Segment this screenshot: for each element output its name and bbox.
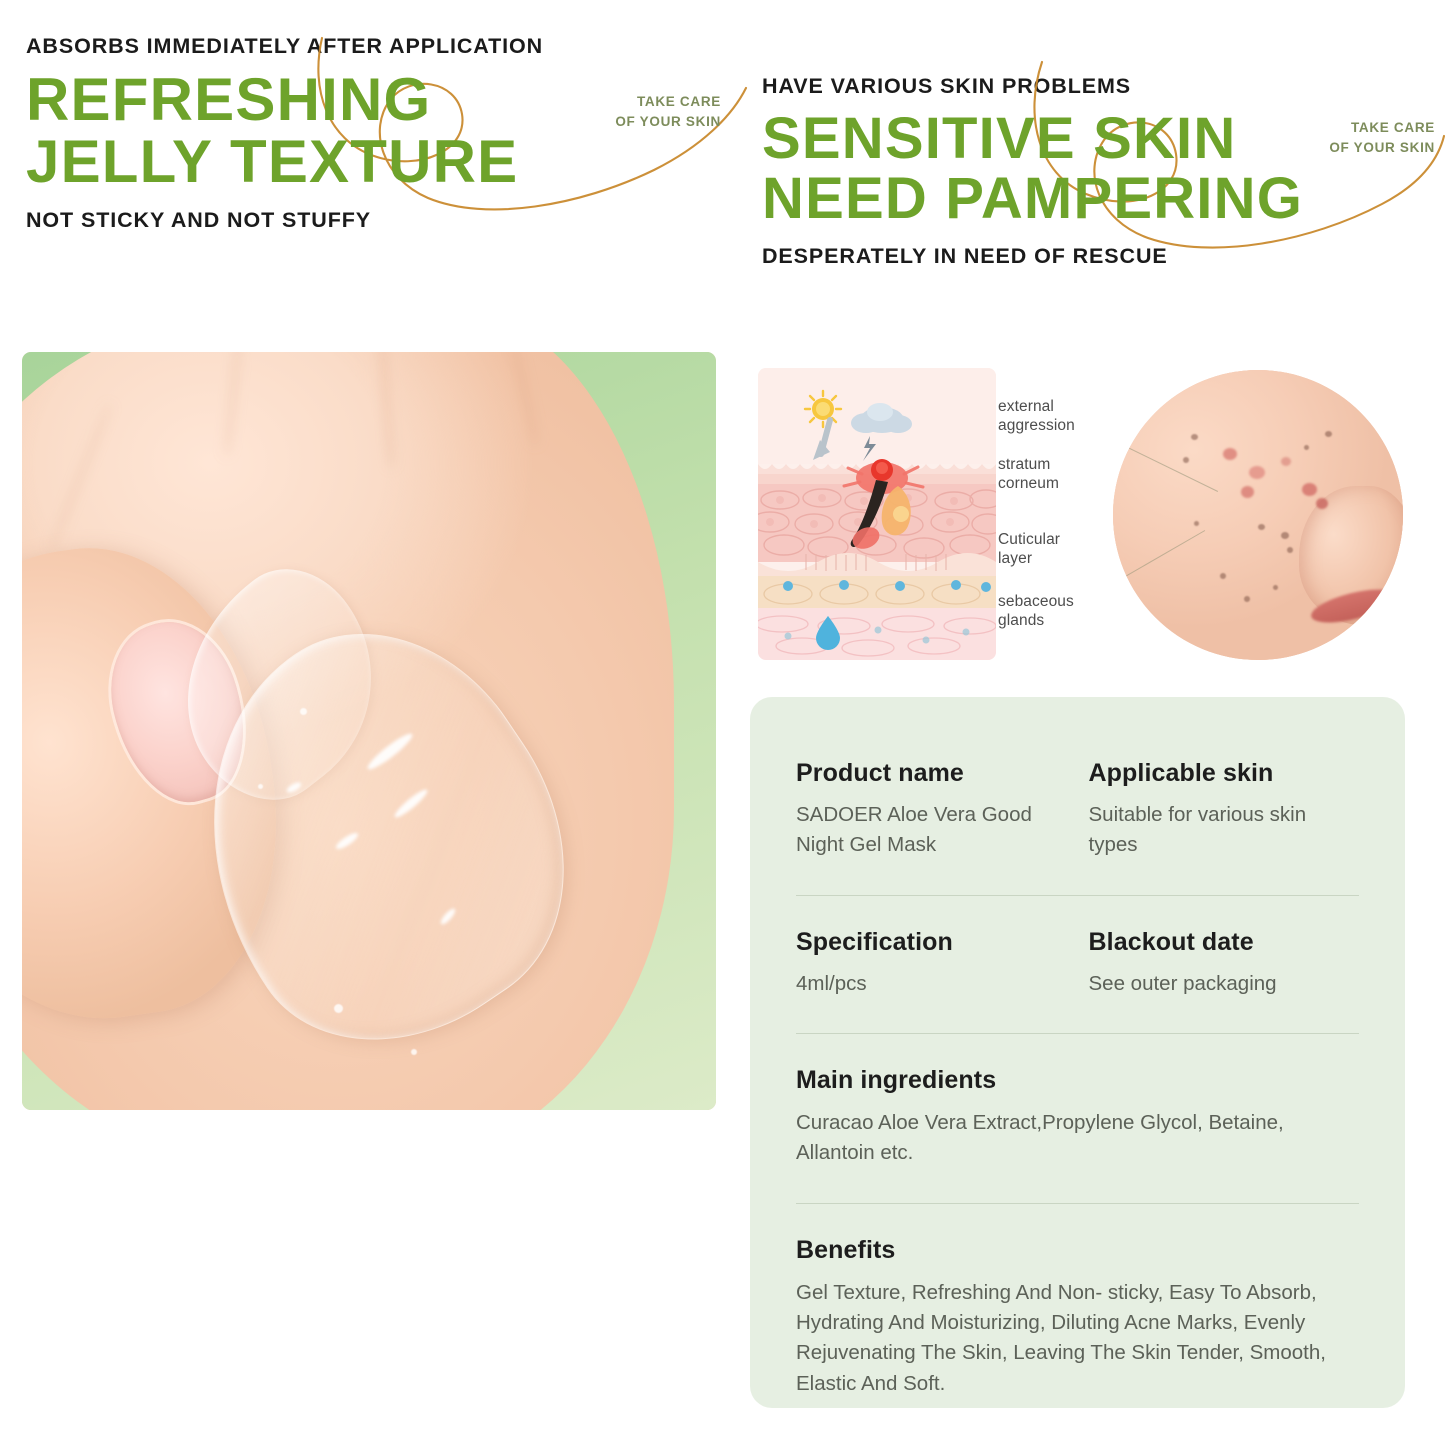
- label-applicable-skin: Applicable skin: [1089, 759, 1360, 788]
- acne-blemish: [1249, 466, 1265, 479]
- take-care-line1-right: TAKE CARE: [1300, 118, 1435, 138]
- value-main-ingredients: Curacao Aloe Vera Extract,Propylene Glyc…: [796, 1108, 1359, 1169]
- acne-mark: [1258, 524, 1265, 530]
- field-applicable-skin: Applicable skin Suitable for various ski…: [1067, 759, 1360, 861]
- value-specification: 4ml/pcs: [796, 969, 1067, 999]
- headline-left-line2: JELLY TEXTURE: [26, 131, 726, 193]
- label-product-name: Product name: [796, 759, 1067, 788]
- field-product-name: Product name SADOER Aloe Vera Good Night…: [796, 759, 1067, 861]
- value-blackout-date: See outer packaging: [1089, 969, 1360, 999]
- label-benefits: Benefits: [796, 1236, 1359, 1265]
- card-divider: [796, 1203, 1359, 1204]
- product-detail-page: ABSORBS IMMEDIATELY AFTER APPLICATION RE…: [0, 0, 1445, 1445]
- skin-label-cuticular-layer: Cuticularlayer: [998, 531, 1060, 569]
- acne-blemish: [1302, 483, 1317, 496]
- sun-icon: [805, 391, 841, 427]
- acne-mark: [1325, 431, 1332, 437]
- subline-text-right: DESPERATELY IN NEED OF RESCUE: [762, 244, 1442, 269]
- take-care-line1-left: TAKE CARE: [586, 92, 721, 112]
- field-benefits: Benefits Gel Texture, Refreshing And Non…: [796, 1236, 1359, 1399]
- subline-text-left: NOT STICKY AND NOT STUFFY: [26, 208, 726, 233]
- label-main-ingredients: Main ingredients: [796, 1066, 1359, 1095]
- product-info-row-1: Product name SADOER Aloe Vera Good Night…: [796, 759, 1359, 861]
- field-blackout-date: Blackout date See outer packaging: [1067, 928, 1360, 999]
- field-specification: Specification 4ml/pcs: [796, 928, 1067, 999]
- label-specification: Specification: [796, 928, 1067, 957]
- skin-label-sebaceous-glands: sebaceousglands: [998, 593, 1074, 631]
- take-care-line2-right: OF YOUR SKIN: [1300, 138, 1435, 158]
- card-divider: [796, 895, 1359, 896]
- photo-gel-bubble: [411, 1049, 417, 1055]
- acne-mark: [1273, 585, 1278, 590]
- acne-mark: [1194, 521, 1199, 526]
- card-divider: [796, 1033, 1359, 1034]
- skin-cross-section-illustration: [758, 368, 996, 660]
- take-care-tagline-right: TAKE CARE OF YOUR SKIN: [1300, 118, 1435, 157]
- skin-label-stratum-corneum: stratumcorneum: [998, 456, 1059, 494]
- headline-right-line2: NEED PAMPERING: [762, 169, 1442, 229]
- take-care-line2-left: OF YOUR SKIN: [586, 112, 721, 132]
- acne-mark: [1287, 547, 1293, 553]
- skin-label-external-aggression: externalaggression: [998, 398, 1075, 436]
- label-blackout-date: Blackout date: [1089, 928, 1360, 957]
- skin-diagram-labels: externalaggression stratumcorneum Cuticu…: [998, 368, 1116, 660]
- product-info-card: Product name SADOER Aloe Vera Good Night…: [750, 697, 1405, 1408]
- photo-gel-bubble: [300, 708, 307, 715]
- value-benefits: Gel Texture, Refreshing And Non- sticky,…: [796, 1278, 1359, 1399]
- acne-blemish: [1241, 486, 1254, 498]
- field-main-ingredients: Main ingredients Curacao Aloe Vera Extra…: [796, 1066, 1359, 1169]
- product-info-row-2: Specification 4ml/pcs Blackout date See …: [796, 928, 1359, 999]
- eyebrow-text-right: HAVE VARIOUS SKIN PROBLEMS: [762, 74, 1442, 99]
- take-care-tagline-left: TAKE CARE OF YOUR SKIN: [586, 92, 721, 131]
- skin-problem-diagram: externalaggression stratumcorneum Cuticu…: [758, 368, 1403, 660]
- gel-texture-photo: [22, 352, 716, 1110]
- eyebrow-text-left: ABSORBS IMMEDIATELY AFTER APPLICATION: [26, 34, 726, 59]
- acne-mark: [1244, 596, 1250, 602]
- value-product-name: SADOER Aloe Vera Good Night Gel Mask: [796, 800, 1067, 861]
- skin-layers-svg: [758, 368, 996, 660]
- acne-mark: [1183, 457, 1189, 463]
- value-applicable-skin: Suitable for various skin types: [1089, 800, 1360, 861]
- header-right: HAVE VARIOUS SKIN PROBLEMS SENSITIVE SKI…: [762, 74, 1442, 269]
- acne-skin-photo: [1113, 370, 1403, 660]
- header-left: ABSORBS IMMEDIATELY AFTER APPLICATION RE…: [26, 34, 726, 233]
- photo-gel-bubble: [258, 784, 263, 789]
- acne-blemish: [1316, 498, 1328, 509]
